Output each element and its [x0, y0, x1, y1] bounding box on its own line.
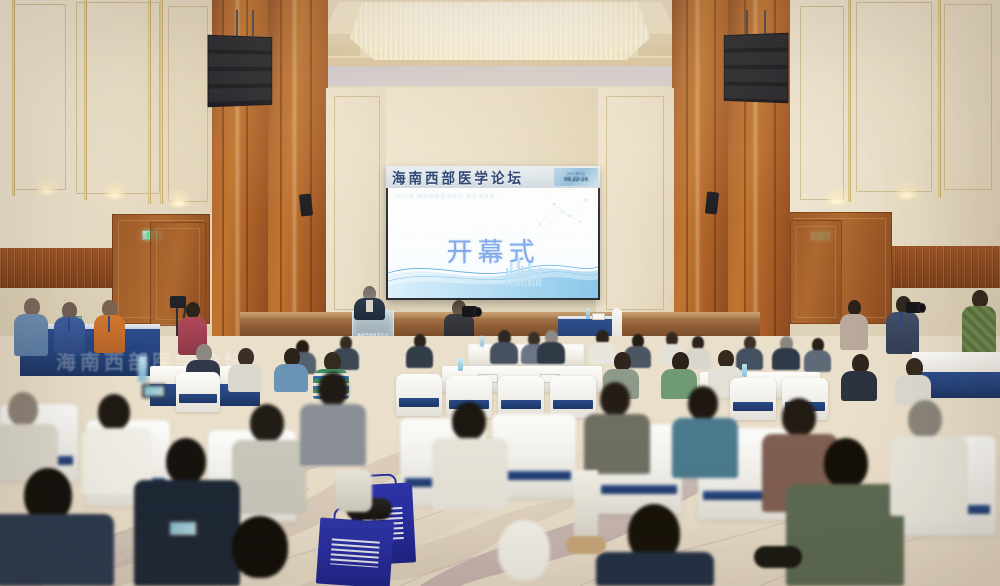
- trouser-leg: [336, 470, 372, 512]
- gold-trim-strip: [84, 0, 87, 200]
- wall-panel-above-screen: [386, 88, 598, 168]
- water-bottle-icon: [458, 358, 463, 371]
- wall-uplight-fixture: [42, 190, 51, 193]
- lanyard: [68, 318, 70, 332]
- camera-icon: [170, 296, 186, 308]
- tote-bag-left: [316, 517, 394, 586]
- smartphone-icon: [142, 384, 166, 398]
- smartphone-icon: [168, 520, 198, 537]
- water-bottle-icon: [742, 364, 747, 377]
- door-right-leaf[interactable]: [790, 220, 842, 324]
- audience-torso-front: [0, 514, 114, 586]
- banner-badge-line2: 09.22-24: [564, 177, 588, 183]
- audience-torso-front: [432, 438, 508, 510]
- audience-chair: [176, 372, 220, 412]
- audience-head-front: [688, 386, 718, 420]
- speaker-rigging-wire: [764, 10, 766, 34]
- wall-panel-trim: [800, 6, 844, 200]
- camera-icon: [906, 302, 921, 313]
- wood-column-right-inner: [672, 0, 730, 330]
- gold-trim-strip: [848, 0, 851, 202]
- banner-date-badge: 2021年9月 09.22-24: [554, 168, 598, 186]
- lanyard: [108, 316, 110, 332]
- audience-torso: [406, 346, 433, 368]
- wall-panel-trim: [944, 4, 992, 190]
- audience-torso: [841, 371, 877, 401]
- audience-head-front: [232, 516, 288, 578]
- audience-head-front: [908, 400, 942, 438]
- audience-torso: [490, 342, 518, 364]
- audience-chair: [396, 374, 442, 416]
- trouser-leg: [574, 470, 598, 544]
- audience-chair: [730, 378, 776, 420]
- gold-trim-strip: [148, 0, 151, 204]
- banner-badge-line1: 2021年9月: [567, 171, 585, 176]
- wall-panel-trim: [168, 6, 208, 202]
- camera-icon: [462, 306, 477, 317]
- wall-uplight-fixture: [902, 194, 911, 197]
- wall-uplight-fixture: [110, 194, 119, 197]
- audience-head-front: [498, 520, 550, 580]
- slide-dot-decor: [536, 194, 592, 230]
- audience-torso-front: [890, 436, 968, 516]
- wood-column-left-inner: [268, 0, 328, 330]
- gold-trim-strip: [160, 0, 163, 204]
- line-array-speaker-icon: [724, 33, 789, 103]
- line-array-speaker-icon: [208, 35, 273, 107]
- screen-header-banner: 海南西部医学论坛 2021年9月 09.22-24: [386, 166, 600, 188]
- gold-trim-strip: [12, 0, 15, 196]
- banner-title: 海南西部医学论坛: [386, 166, 524, 188]
- water-bottle-icon: [480, 336, 484, 347]
- audience-head-front: [452, 402, 486, 440]
- water-bottle-icon: [138, 356, 147, 382]
- audience-head-front: [824, 438, 868, 488]
- wall-panel-trim: [856, 2, 932, 192]
- wall-uplight-fixture: [832, 200, 841, 203]
- audience-torso: [537, 342, 565, 364]
- gold-trim-strip: [938, 0, 941, 198]
- audience-torso: [588, 342, 616, 364]
- audience-torso: [772, 348, 800, 370]
- wall-uplight-fixture: [174, 202, 183, 205]
- water-bottle-icon: [586, 308, 590, 319]
- audience-chair: [498, 376, 544, 418]
- wall-panel-trim: [334, 96, 380, 310]
- audience-torso: [274, 364, 308, 392]
- standing-person-head: [186, 302, 200, 318]
- wall-speaker-left: [299, 193, 313, 216]
- speaker-shirt: [366, 300, 373, 312]
- audience-chair: [550, 376, 596, 418]
- nameplate: [592, 313, 605, 320]
- shoe: [566, 536, 606, 554]
- lanyard: [900, 312, 902, 330]
- audience-torso-front: [596, 552, 714, 586]
- slide-wave-graphic: [388, 246, 598, 298]
- photographer-torso: [886, 312, 919, 354]
- audience-head-front: [600, 382, 630, 416]
- audience-head-front: [166, 438, 206, 484]
- wall-panel-trim: [14, 4, 66, 190]
- standing-person-torso: [14, 314, 48, 356]
- audience-torso-front: [584, 414, 650, 474]
- shoe: [754, 546, 802, 568]
- audience-head-front: [98, 394, 130, 430]
- audience-head-front: [782, 398, 816, 436]
- audience-torso: [228, 364, 262, 392]
- audience-torso-front: [786, 484, 904, 586]
- audience-head-front: [8, 392, 38, 426]
- audience-head-front: [250, 404, 284, 442]
- chandelier-icon: [350, 2, 650, 60]
- speaker-rigging-wire: [252, 10, 254, 36]
- wall-panel-trim: [606, 96, 664, 310]
- audience-torso-front: [232, 440, 306, 514]
- wall-speaker-right: [705, 191, 719, 214]
- standing-person-torso: [840, 314, 868, 350]
- slide-subtitle: 2021年 海南西部医学论坛 暨学术年会: [394, 193, 496, 200]
- conference-hall-photo: 海南西部医学论坛 2021年9月 09.22-24 2021年 海南西部医学论坛…: [0, 0, 1000, 586]
- audience-torso: [804, 350, 831, 372]
- slide-body: 2021年 海南西部医学论坛 暨学术年会 开幕式: [388, 188, 598, 298]
- audience-torso-front: [672, 418, 738, 478]
- projection-screen: 海南西部医学论坛 2021年9月 09.22-24 2021年 海南西部医学论坛…: [386, 166, 600, 300]
- standing-person-head: [848, 300, 861, 315]
- audience-head-front: [318, 372, 348, 406]
- standing-person-torso: [962, 306, 996, 356]
- audience-torso-front: [300, 404, 366, 466]
- audience-torso: [736, 348, 763, 370]
- stage-chair-cover: [612, 308, 622, 338]
